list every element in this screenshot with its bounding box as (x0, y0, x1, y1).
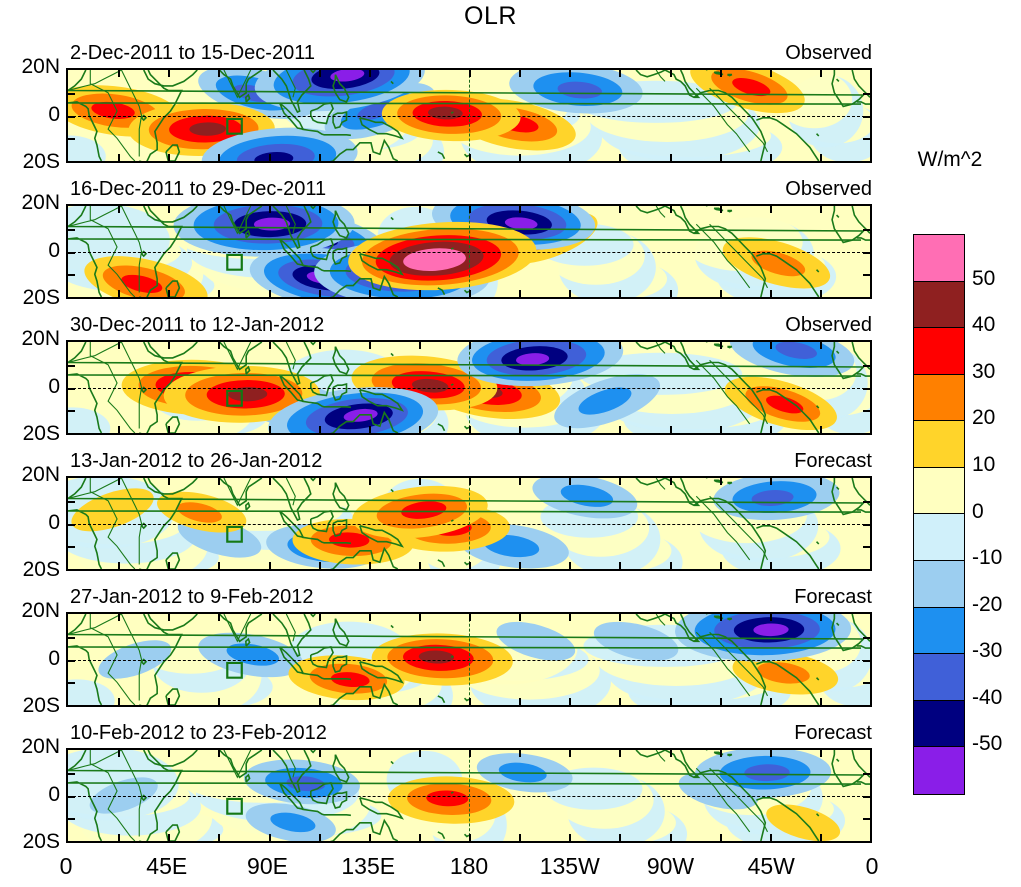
dateline-marker (469, 342, 470, 433)
panel-period-label: 16-Dec-2011 to 29-Dec-2011 (70, 178, 326, 201)
panel-period-label: 30-Dec-2011 to 12-Jan-2012 (70, 314, 324, 337)
colorbar-tick--30: -30 (972, 639, 1002, 663)
colorbar-tick--50: -50 (972, 732, 1002, 756)
dateline-marker (469, 70, 470, 161)
y-axis-tick-0: 0 (0, 647, 60, 671)
dateline-marker (469, 478, 470, 569)
panel-period-label: 10-Feb-2012 to 23-Feb-2012 (70, 722, 327, 745)
figure-title-text: OLR (464, 2, 517, 30)
colorbar-band-0 (914, 235, 964, 282)
x-axis-tick-1: 45E (146, 853, 187, 880)
y-axis-tick-20S: 20S (0, 150, 60, 174)
colorbar-band-1 (914, 282, 964, 329)
y-axis-tick-20S: 20S (0, 286, 60, 310)
panel-period-label: 2-Dec-2011 to 15-Dec-2011 (70, 42, 315, 65)
y-axis-tick-20N: 20N (0, 463, 60, 487)
colorbar-tick--10: -10 (972, 546, 1002, 570)
colorbar-band-5 (914, 468, 964, 515)
colorbar-tick-20: 20 (972, 406, 995, 430)
x-axis-tick-0: 0 (60, 853, 73, 880)
panel-kind-label: Observed (785, 42, 872, 65)
y-axis-tick-0: 0 (0, 783, 60, 807)
colorbar-tick-40: 40 (972, 313, 995, 337)
colorbar-band-11 (914, 747, 964, 794)
y-axis-tick-20S: 20S (0, 694, 60, 718)
y-axis-tick-20N: 20N (0, 55, 60, 79)
map-panel (66, 68, 872, 163)
panel-kind-label: Forecast (794, 722, 872, 745)
map-panel (66, 748, 872, 843)
index-region-box (227, 663, 241, 678)
colorbar-band-4 (914, 421, 964, 468)
colorbar-band-3 (914, 375, 964, 422)
colorbar-tick-30: 30 (972, 360, 995, 384)
x-axis-tick-7: 45W (748, 853, 795, 880)
colorbar-band-7 (914, 561, 964, 608)
x-axis-tick-4: 180 (450, 853, 488, 880)
colorbar-band-9 (914, 654, 964, 701)
panel-period-label: 27-Jan-2012 to 9-Feb-2012 (70, 586, 314, 609)
map-panel (66, 476, 872, 571)
colorbar-tick-10: 10 (972, 453, 995, 477)
index-region-box (227, 255, 241, 270)
colorbar (913, 234, 965, 795)
figure-title: OLR (0, 2, 1021, 31)
panel-kind-label: Observed (785, 314, 872, 337)
colorbar-band-8 (914, 608, 964, 655)
index-region-box (227, 799, 241, 814)
olr-figure: OLR 2-Dec-2011 to 15-Dec-2011Observed20N… (0, 0, 1021, 887)
x-axis-tick-8: 0 (866, 853, 879, 880)
index-region-box (227, 527, 241, 542)
colorbar-tick--40: -40 (972, 686, 1002, 710)
y-axis-tick-0: 0 (0, 375, 60, 399)
y-axis-tick-20N: 20N (0, 735, 60, 759)
x-axis-tick-6: 90W (647, 853, 694, 880)
colorbar-band-6 (914, 514, 964, 561)
dateline-marker (469, 614, 470, 705)
dateline-marker (469, 206, 470, 297)
y-axis-tick-20S: 20S (0, 558, 60, 582)
y-axis-tick-20N: 20N (0, 599, 60, 623)
colorbar-tick-0: 0 (972, 500, 984, 524)
panel-kind-label: Observed (785, 178, 872, 201)
y-axis-tick-0: 0 (0, 511, 60, 535)
panel-kind-label: Forecast (794, 586, 872, 609)
map-panel (66, 204, 872, 299)
map-panel (66, 612, 872, 707)
y-axis-tick-20S: 20S (0, 830, 60, 854)
y-axis-tick-20N: 20N (0, 327, 60, 351)
y-axis-tick-20S: 20S (0, 422, 60, 446)
colorbar-tick--20: -20 (972, 593, 1002, 617)
dateline-marker (469, 750, 470, 841)
colorbar-tick-50: 50 (972, 267, 995, 291)
x-axis-tick-3: 135E (341, 853, 395, 880)
colorbar-band-10 (914, 701, 964, 748)
index-region-box (227, 119, 241, 134)
panel-kind-label: Forecast (794, 450, 872, 473)
map-panel (66, 340, 872, 435)
panel-period-label: 13-Jan-2012 to 26-Jan-2012 (70, 450, 322, 473)
colorbar-unit-label: W/m^2 (890, 148, 1010, 172)
x-axis-tick-2: 90E (247, 853, 288, 880)
colorbar-band-2 (914, 328, 964, 375)
y-axis-tick-20N: 20N (0, 191, 60, 215)
y-axis-tick-0: 0 (0, 103, 60, 127)
index-region-box (227, 391, 241, 406)
x-axis-tick-5: 135W (540, 853, 600, 880)
y-axis-tick-0: 0 (0, 239, 60, 263)
